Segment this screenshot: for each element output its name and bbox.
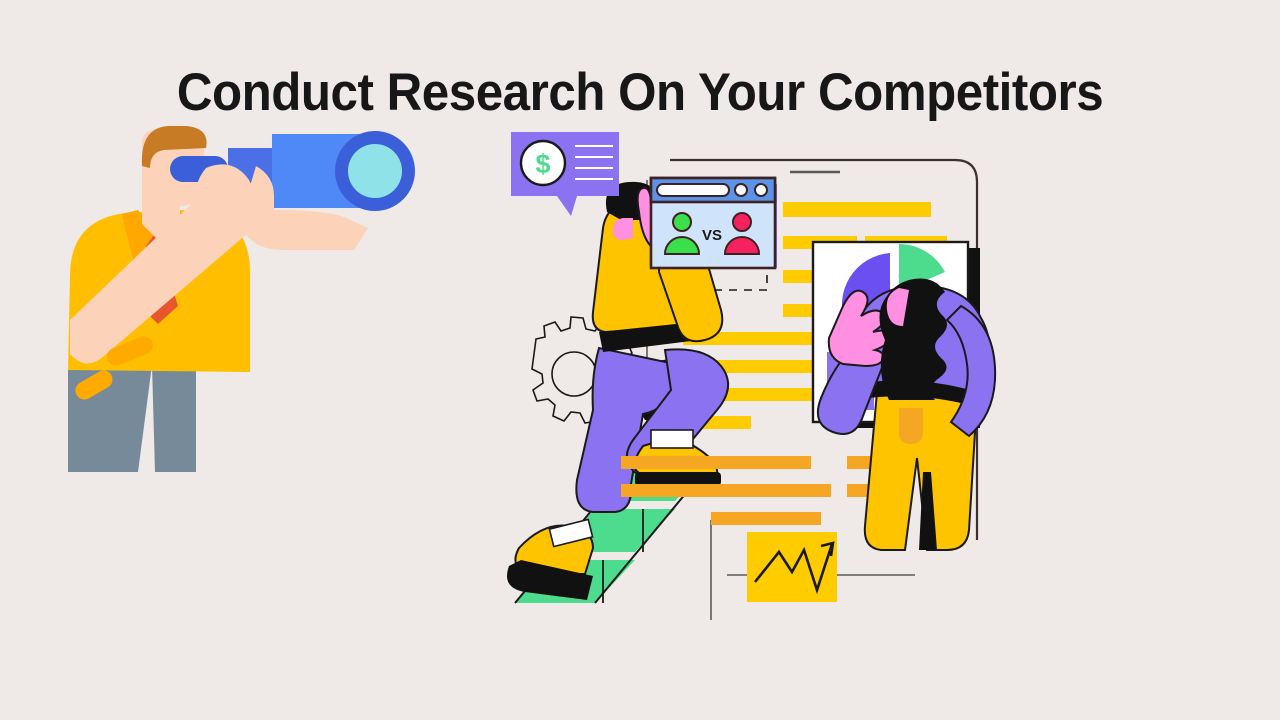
window-dot bbox=[755, 184, 767, 196]
avatar-right-head bbox=[733, 213, 751, 231]
text-bar-lower bbox=[621, 456, 811, 469]
illustration-shape bbox=[552, 352, 596, 396]
dollar-icon: $ bbox=[535, 149, 550, 179]
poster-canvas: Conduct Research On Your Competitors bbox=[0, 0, 1280, 720]
telescope-lens-glass bbox=[348, 144, 402, 198]
window-dot bbox=[735, 184, 747, 196]
money-speech-bubble: $ bbox=[511, 132, 619, 216]
boot-front-sole bbox=[635, 472, 721, 486]
businessman-with-telescope-illustration bbox=[60, 120, 440, 490]
text-bar-lower bbox=[621, 484, 831, 497]
presenting-person bbox=[818, 279, 995, 551]
page-title: Conduct Research On Your Competitors bbox=[45, 58, 1235, 128]
text-bar-lower bbox=[711, 512, 821, 525]
text-bar bbox=[783, 202, 931, 217]
vs-label: VS bbox=[702, 227, 722, 244]
vs-comparison-window[interactable]: VS bbox=[651, 178, 777, 268]
search-pill bbox=[657, 184, 729, 196]
trend-chart-card bbox=[747, 532, 837, 602]
avatar-left-head bbox=[673, 213, 691, 231]
pocket bbox=[899, 408, 923, 444]
competitor-research-illustration: $ VS bbox=[495, 120, 1025, 640]
sock-front bbox=[651, 430, 693, 448]
